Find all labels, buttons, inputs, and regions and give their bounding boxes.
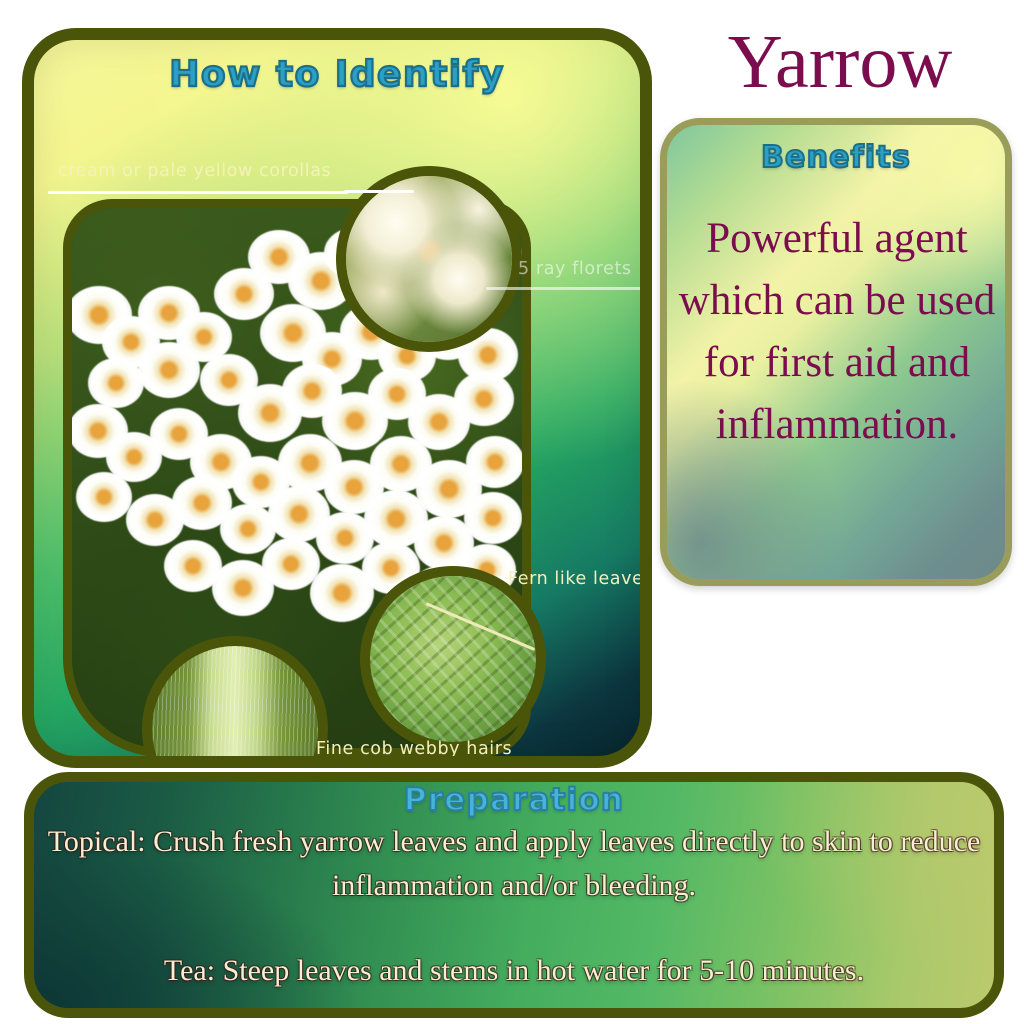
callout-corollas: cream or pale yellow corollas bbox=[58, 161, 331, 181]
hairs-leader-line bbox=[238, 766, 554, 768]
benefits-body-text: Powerful agent which can be used for fir… bbox=[672, 208, 1002, 456]
callout-fern-leaves: Fern like leaves bbox=[508, 569, 652, 589]
callout-florets: 5 ray florets bbox=[518, 259, 632, 279]
identify-panel: cream or pale yellow corollas 5 ray flor… bbox=[22, 28, 652, 768]
floret-closeup-inset bbox=[346, 176, 512, 342]
corollas-leader-line-tail bbox=[344, 190, 414, 193]
preparation-topical-text: Topical: Crush fresh yarrow leaves and a… bbox=[34, 820, 994, 908]
florets-leader-line bbox=[486, 287, 652, 290]
page-title: Yarrow bbox=[660, 22, 1020, 102]
identify-heading: How to Identify bbox=[22, 28, 652, 95]
fern-leaf-closeup-inset bbox=[370, 576, 536, 742]
callout-webby-hairs: Fine cob webby hairs bbox=[316, 739, 512, 759]
benefits-heading: Benefits bbox=[660, 140, 1012, 175]
corollas-leader-line bbox=[48, 191, 348, 194]
preparation-heading: Preparation bbox=[24, 782, 1004, 818]
preparation-tea-text: Tea: Steep leaves and stems in hot water… bbox=[34, 950, 994, 992]
